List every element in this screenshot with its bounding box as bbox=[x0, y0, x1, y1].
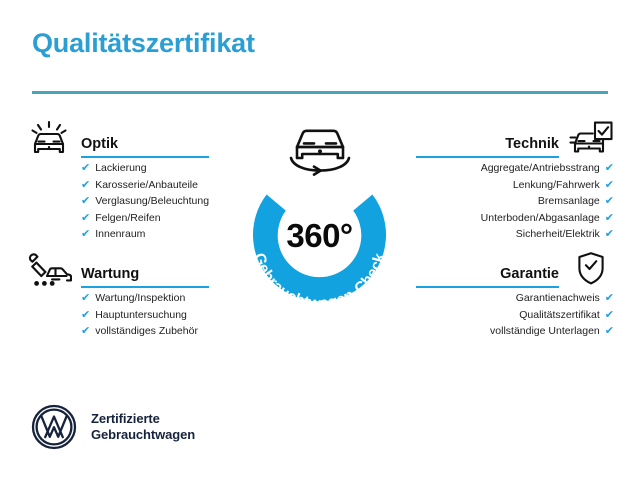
page-title: Qualitätszertifikat bbox=[32, 30, 608, 57]
wrench-car-icon bbox=[26, 250, 72, 290]
list-item-label: Hauptuntersuchung bbox=[95, 309, 187, 321]
list-item: Garantienachweis✔ bbox=[416, 290, 614, 307]
header-divider bbox=[32, 91, 608, 94]
list-item: ✔Felgen/Reifen bbox=[81, 210, 209, 227]
section-garantie-underline bbox=[416, 286, 559, 288]
list-item: Unterboden/Abgasanlage✔ bbox=[416, 210, 614, 227]
list-item-label: vollständiges Zubehör bbox=[95, 325, 198, 337]
section-optik: Optik ✔Lackierung ✔Karosserie/Anbauteile… bbox=[24, 126, 209, 243]
check-icon: ✔ bbox=[605, 160, 614, 177]
list-item: vollständige Unterlagen✔ bbox=[416, 323, 614, 340]
check-icon: ✔ bbox=[81, 323, 90, 340]
shiny-car-icon bbox=[26, 120, 72, 160]
list-item: ✔Wartung/Inspektion bbox=[81, 290, 209, 307]
list-item-label: Verglasung/Beleuchtung bbox=[95, 195, 209, 207]
section-wartung-title: Wartung bbox=[81, 267, 139, 282]
check-icon: ✔ bbox=[81, 210, 90, 227]
check-icon: ✔ bbox=[605, 307, 614, 324]
check-icon: ✔ bbox=[81, 307, 90, 324]
list-item: Lenkung/Fahrwerk✔ bbox=[416, 177, 614, 194]
list-item: Aggregate/Antriebsstrang✔ bbox=[416, 160, 614, 177]
section-optik-header: Optik bbox=[24, 126, 209, 160]
list-item: ✔Innenraum bbox=[81, 226, 209, 243]
header: Qualitätszertifikat bbox=[32, 30, 608, 57]
list-item-label: Bremsanlage bbox=[538, 195, 600, 207]
check-icon: ✔ bbox=[605, 177, 614, 194]
car-checkbox-icon bbox=[568, 120, 614, 160]
check-icon: ✔ bbox=[81, 177, 90, 194]
section-garantie-header: Garantie bbox=[416, 256, 616, 290]
section-wartung-underline bbox=[81, 286, 209, 288]
section-optik-title: Optik bbox=[81, 137, 118, 152]
badge-degrees: 360° bbox=[233, 217, 406, 255]
list-item-label: Karosserie/Anbauteile bbox=[95, 179, 198, 191]
check-icon: ✔ bbox=[605, 226, 614, 243]
list-item-label: vollständige Unterlagen bbox=[490, 325, 600, 337]
list-item: Qualitätszertifikat✔ bbox=[416, 307, 614, 324]
check-icon: ✔ bbox=[605, 323, 614, 340]
check-icon: ✔ bbox=[81, 226, 90, 243]
section-technik-list: Aggregate/Antriebsstrang✔ Lenkung/Fahrwe… bbox=[416, 160, 616, 243]
section-garantie: Garantie Garantienachweis✔ Qualitätszert… bbox=[416, 256, 616, 340]
list-item-label: Innenraum bbox=[95, 228, 145, 240]
list-item-label: Aggregate/Antriebsstrang bbox=[481, 162, 600, 174]
section-technik-title: Technik bbox=[505, 137, 559, 152]
section-wartung: Wartung ✔Wartung/Inspektion ✔Hauptunters… bbox=[24, 256, 209, 340]
list-item-label: Qualitätszertifikat bbox=[519, 309, 600, 321]
footer-logo-block: Zertifizierte Gebrauchtwagen bbox=[30, 403, 195, 451]
list-item: ✔Karosserie/Anbauteile bbox=[81, 177, 209, 194]
section-technik: Technik Aggregate/Antriebsstrang✔ Lenkun… bbox=[416, 126, 616, 243]
section-garantie-title: Garantie bbox=[500, 267, 559, 282]
check-icon: ✔ bbox=[81, 160, 90, 177]
certificate-page: Qualitätszertifikat Opt bbox=[0, 0, 640, 480]
list-item-label: Unterboden/Abgasanlage bbox=[481, 212, 600, 224]
list-item-label: Lackierung bbox=[95, 162, 146, 174]
section-optik-list: ✔Lackierung ✔Karosserie/Anbauteile ✔Verg… bbox=[24, 160, 209, 243]
list-item: ✔Hauptuntersuchung bbox=[81, 307, 209, 324]
shield-check-icon bbox=[568, 250, 614, 290]
vw-logo-line2: Gebrauchtwagen bbox=[91, 427, 195, 443]
section-wartung-header: Wartung bbox=[24, 256, 209, 290]
car-rotate-icon bbox=[273, 120, 367, 176]
check-icon: ✔ bbox=[605, 193, 614, 210]
vw-logo-icon bbox=[30, 403, 78, 451]
section-technik-header: Technik bbox=[416, 126, 616, 160]
list-item-label: Garantienachweis bbox=[516, 292, 600, 304]
section-garantie-list: Garantienachweis✔ Qualitätszertifikat✔ v… bbox=[416, 290, 616, 340]
section-technik-underline bbox=[416, 156, 559, 158]
vw-logo-text: Zertifizierte Gebrauchtwagen bbox=[91, 411, 195, 443]
list-item-label: Wartung/Inspektion bbox=[95, 292, 185, 304]
vw-logo-line1: Zertifizierte bbox=[91, 411, 195, 427]
list-item: ✔Verglasung/Beleuchtung bbox=[81, 193, 209, 210]
list-item: ✔vollständiges Zubehör bbox=[81, 323, 209, 340]
check-icon: ✔ bbox=[605, 290, 614, 307]
section-optik-underline bbox=[81, 156, 209, 158]
check-icon: ✔ bbox=[81, 193, 90, 210]
360-check-badge: Gebrauchtwagen-Check 360° bbox=[233, 155, 406, 328]
list-item-label: Felgen/Reifen bbox=[95, 212, 160, 224]
list-item: ✔Lackierung bbox=[81, 160, 209, 177]
section-wartung-list: ✔Wartung/Inspektion ✔Hauptuntersuchung ✔… bbox=[24, 290, 209, 340]
list-item: Sicherheit/Elektrik✔ bbox=[416, 226, 614, 243]
check-icon: ✔ bbox=[81, 290, 90, 307]
list-item: Bremsanlage✔ bbox=[416, 193, 614, 210]
list-item-label: Sicherheit/Elektrik bbox=[516, 228, 600, 240]
list-item-label: Lenkung/Fahrwerk bbox=[513, 179, 600, 191]
check-icon: ✔ bbox=[605, 210, 614, 227]
